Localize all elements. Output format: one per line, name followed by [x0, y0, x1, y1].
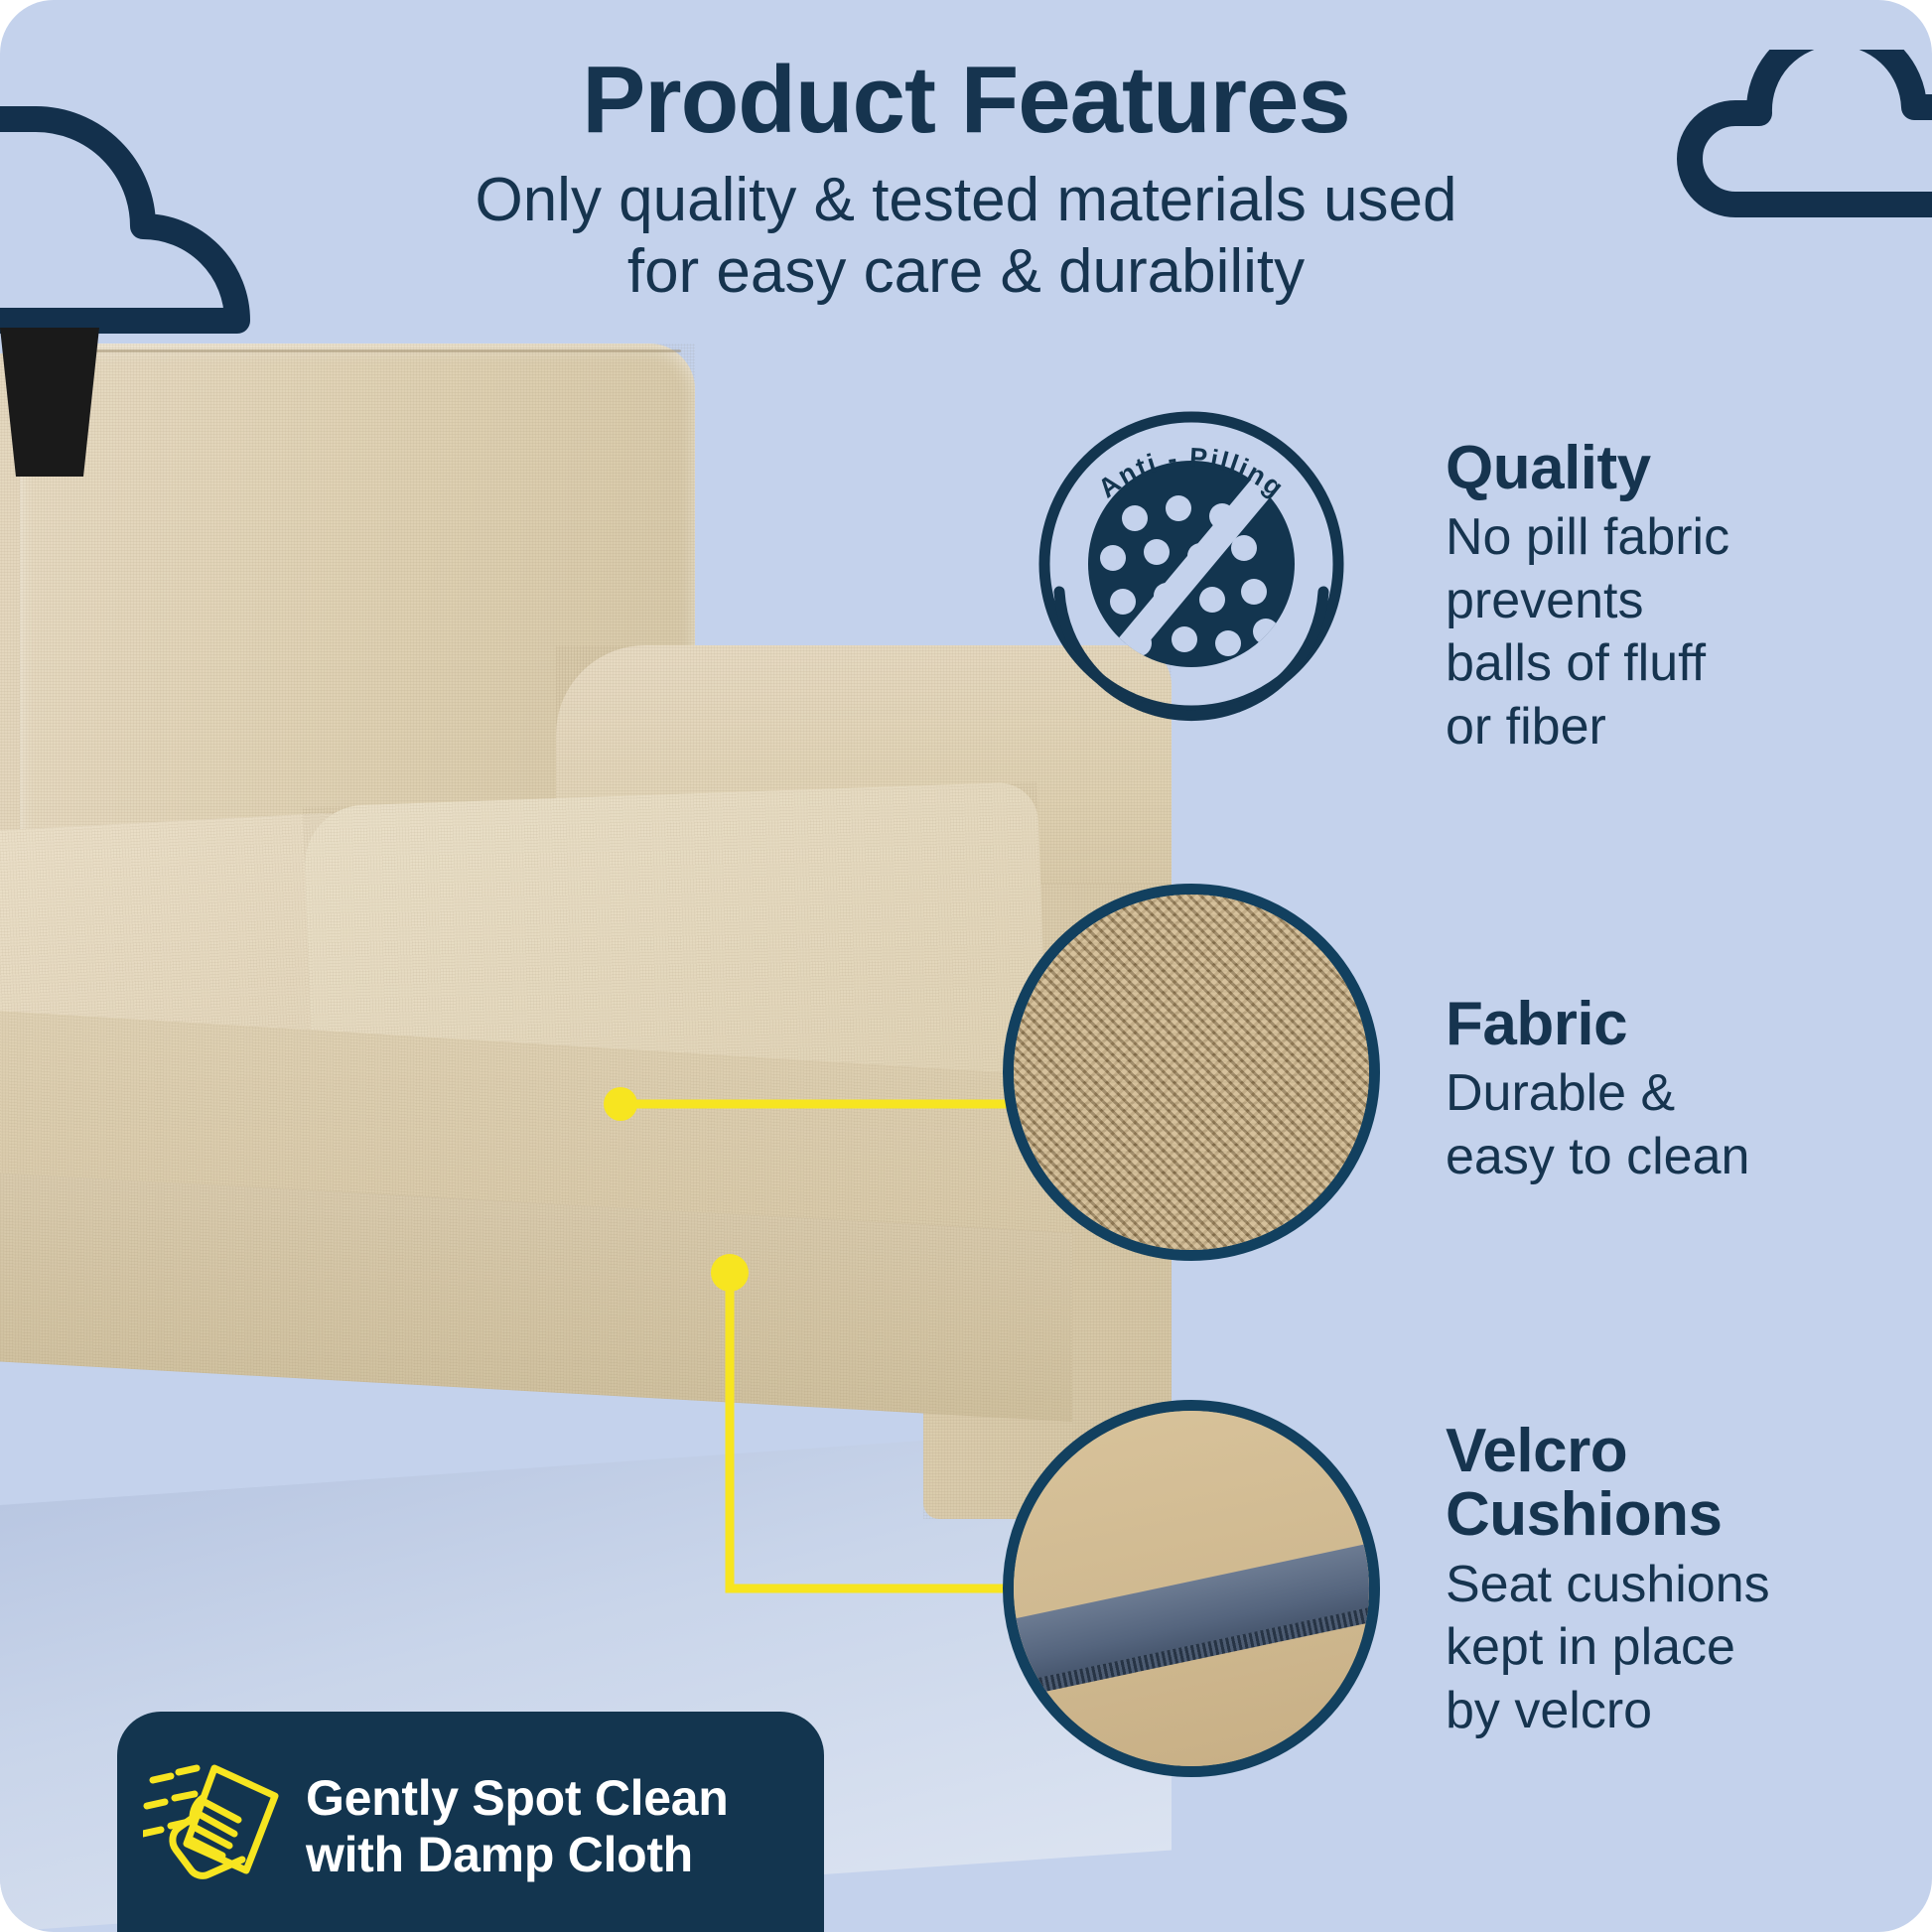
feature-quality-title: Quality: [1446, 437, 1872, 500]
feature-velcro: Velcro Cushions Seat cushions kept in pl…: [1446, 1420, 1902, 1742]
care-instruction-badge: Gently Spot Clean with Damp Cloth: [117, 1712, 824, 1932]
feature-quality-body-line-4: or fiber: [1446, 696, 1872, 759]
feature-velcro-title: Velcro Cushions: [1446, 1420, 1902, 1548]
feature-fabric-title: Fabric: [1446, 993, 1872, 1056]
feature-fabric-body-line-2: easy to clean: [1446, 1126, 1872, 1188]
feature-velcro-body-line-2: kept in place: [1446, 1616, 1902, 1679]
header: Product Features Only quality & tested m…: [0, 52, 1932, 308]
page-subtitle: Only quality & tested materials used for…: [0, 165, 1932, 308]
feature-velcro-body-line-1: Seat cushions: [1446, 1554, 1902, 1616]
page-title: Product Features: [0, 52, 1932, 149]
feature-quality-body-line-3: balls of fluff: [1446, 632, 1872, 695]
subtitle-line-1: Only quality & tested materials used: [0, 165, 1932, 236]
feature-velcro-title-line-1: Velcro: [1446, 1420, 1902, 1483]
feature-velcro-body: Seat cushions kept in place by velcro: [1446, 1554, 1902, 1742]
care-instruction-text: Gently Spot Clean with Damp Cloth: [306, 1770, 729, 1883]
velcro-closeup-circle: [1003, 1400, 1380, 1777]
feature-quality-body-line-2: prevents: [1446, 570, 1872, 632]
feature-fabric-body: Durable & easy to clean: [1446, 1062, 1872, 1188]
leader-dot-velcro: [711, 1254, 749, 1292]
fabric-closeup-circle: [1003, 884, 1380, 1261]
feature-velcro-title-line-2: Cushions: [1446, 1483, 1902, 1547]
feature-quality-body: No pill fabric prevents balls of fluff o…: [1446, 506, 1872, 759]
hand-with-cloth-icon: [143, 1750, 292, 1904]
feature-velcro-body-line-3: by velcro: [1446, 1680, 1902, 1742]
care-instruction-line-2: with Damp Cloth: [306, 1827, 729, 1883]
feature-fabric-body-line-1: Durable &: [1446, 1062, 1872, 1125]
anti-pilling-icon: Anti - Pilling: [1028, 397, 1355, 725]
feature-quality: Quality No pill fabric prevents balls of…: [1446, 437, 1872, 759]
leader-dot-fabric: [604, 1087, 637, 1121]
feature-fabric: Fabric Durable & easy to clean: [1446, 993, 1872, 1188]
subtitle-line-2: for easy care & durability: [0, 236, 1932, 308]
care-instruction-line-1: Gently Spot Clean: [306, 1770, 729, 1827]
infographic-canvas: Product Features Only quality & tested m…: [0, 0, 1932, 1932]
feature-quality-body-line-1: No pill fabric: [1446, 506, 1872, 569]
